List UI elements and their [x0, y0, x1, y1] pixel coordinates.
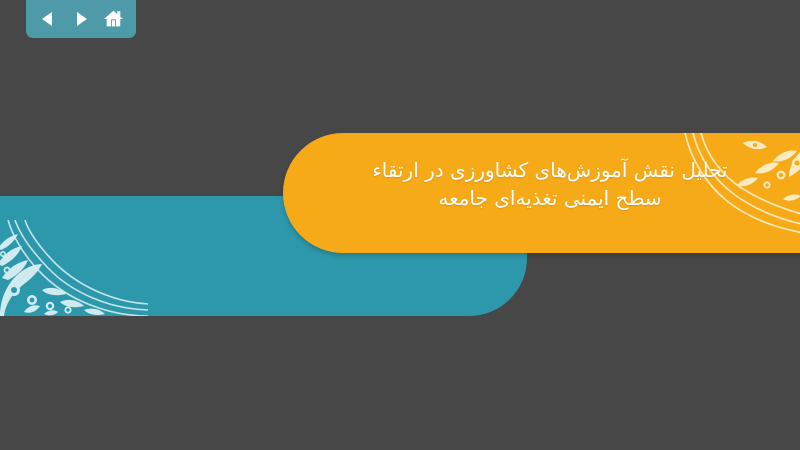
presentation-slide: تحلیل نقش آموزش‌های کشاورزی در ارتقاء سط…: [0, 0, 800, 450]
triangle-left-icon: [39, 10, 57, 28]
page-title: تحلیل نقش آموزش‌های کشاورزی در ارتقاء سط…: [300, 156, 800, 213]
slide-navigation-bar: [26, 0, 136, 38]
page-title-line-2: سطح ایمنی تغذیه‌ای جامعه: [300, 184, 800, 212]
home-icon: [103, 9, 124, 29]
arabesque-corner-ornament-teal: [0, 220, 148, 316]
page-title-line-1: تحلیل نقش آموزش‌های کشاورزی در ارتقاء: [300, 156, 800, 184]
triangle-right-icon: [72, 10, 90, 28]
home-button[interactable]: [101, 6, 127, 32]
previous-slide-button[interactable]: [35, 6, 61, 32]
next-slide-button[interactable]: [68, 6, 94, 32]
